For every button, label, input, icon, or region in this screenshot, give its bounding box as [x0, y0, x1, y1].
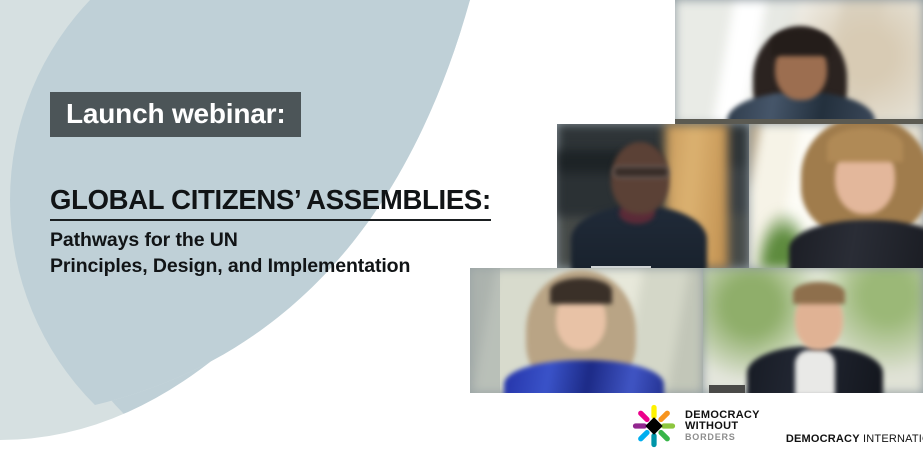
participant-2-head: [611, 142, 669, 214]
pinwheel-icon: [632, 404, 676, 448]
logo-democracy-without-borders[interactable]: DEMOCRACY WITHOUT BORDERS: [632, 404, 760, 448]
participant-3-fringe: [827, 128, 903, 162]
dwb-line-3: BORDERS: [685, 433, 760, 442]
dwb-wordmark: DEMOCRACY WITHOUT BORDERS: [685, 410, 760, 442]
participant-5-tshirt: [795, 350, 835, 393]
participant-4-fringe: [550, 278, 612, 304]
video-tile-participant-2[interactable]: [557, 124, 749, 268]
title-block: GLOBAL CITIZENS’ ASSEMBLIES: Pathways fo…: [50, 185, 550, 280]
logo-democracy-international[interactable]: DEMOCRACY INTERNATIONAL: [786, 405, 923, 447]
di-light-text: INTERNATIONAL: [863, 433, 923, 445]
video-tile-participant-3[interactable]: [749, 124, 923, 268]
video-tile-participant-1[interactable]: [675, 0, 923, 124]
participant-1-fringe: [771, 30, 831, 56]
subtitle-line-1: Pathways for the UN: [50, 228, 550, 254]
video-tile-participant-5[interactable]: [703, 268, 923, 393]
di-bold-text: DEMOCRACY: [786, 433, 860, 445]
participant-4-left-shadow: [470, 268, 500, 393]
dwb-line-2: WITHOUT: [685, 421, 760, 432]
launch-webinar-badge: Launch webinar:: [50, 92, 301, 137]
webinar-title-slide: Launch webinar: GLOBAL CITIZENS’ ASSEMBL…: [0, 0, 923, 462]
page-title: GLOBAL CITIZENS’ ASSEMBLIES:: [50, 185, 491, 221]
participant-2-glasses: [613, 166, 669, 178]
video-tile-participant-4[interactable]: [470, 268, 703, 393]
participant-5-hair: [793, 282, 845, 304]
participant-5-desk-edge: [709, 385, 745, 393]
di-wordmark: DEMOCRACY INTERNATIONAL: [786, 433, 923, 447]
logo-row: DEMOCRACY WITHOUT BORDERS DEMOCRACY INTE…: [632, 398, 923, 454]
